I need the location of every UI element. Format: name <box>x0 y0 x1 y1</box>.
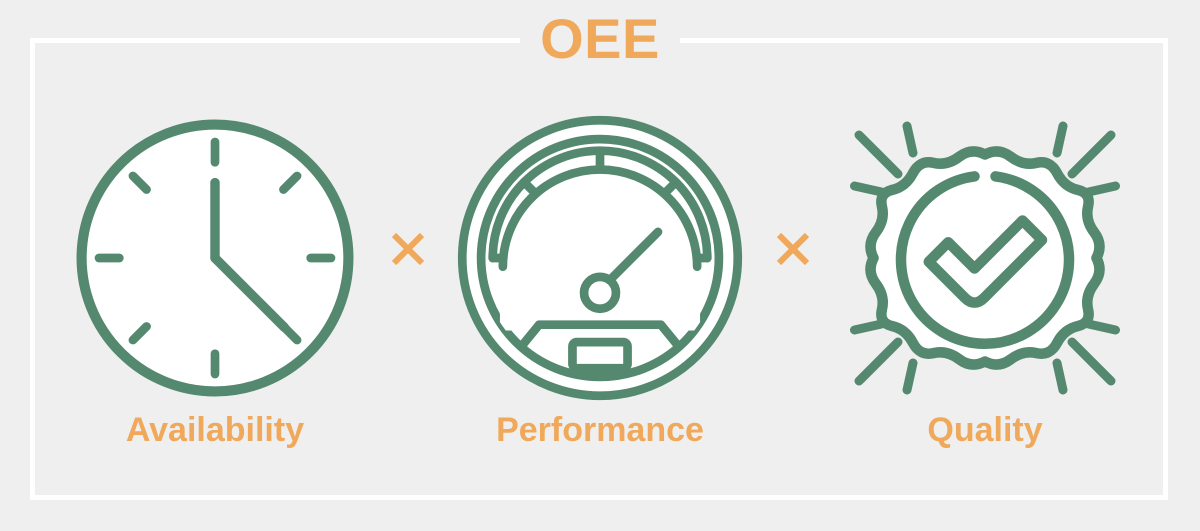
pillar-performance: Performance <box>450 88 750 450</box>
frame-bottom-edge <box>30 495 1168 500</box>
gauge-icon <box>450 108 750 408</box>
pillars-row: Availability <box>35 43 1165 495</box>
oee-diagram: OEE <box>0 0 1200 531</box>
pillar-quality: Quality <box>835 88 1135 450</box>
quality-badge-check-icon <box>835 108 1135 408</box>
multiply-operator-1 <box>378 23 438 475</box>
pillar-label-availability: Availability <box>126 410 304 450</box>
pillar-label-performance: Performance <box>496 410 704 450</box>
multiply-operator-2 <box>763 23 823 475</box>
pillar-availability: Availability <box>65 88 365 450</box>
clock-icon <box>65 108 365 408</box>
pillar-label-quality: Quality <box>927 410 1042 450</box>
